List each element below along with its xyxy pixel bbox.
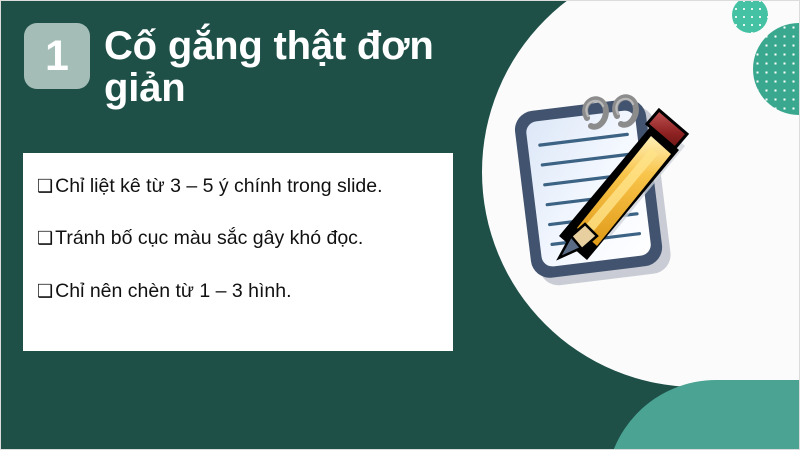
list-item-label: Chỉ nên chèn từ 1 – 3 hình.: [55, 280, 291, 302]
bullet-list-panel: ❑ Chỉ liệt kê từ 3 – 5 ý chính trong sli…: [23, 153, 453, 351]
square-bullet-icon: ❑: [37, 282, 53, 300]
teal-corner-shape: [606, 380, 800, 450]
square-bullet-icon: ❑: [37, 229, 53, 247]
page-title: Cố gắng thật đơn giản: [104, 25, 489, 110]
notepad-pencil-illustration: [501, 76, 731, 326]
list-item-label: Tránh bố cục màu sắc gây khó đọc.: [55, 227, 363, 249]
list-item-label: Chỉ liệt kê từ 3 – 5 ý chính trong slide…: [55, 175, 382, 197]
list-item: ❑ Chỉ liệt kê từ 3 – 5 ý chính trong sli…: [37, 175, 439, 197]
slide-header: 1 Cố gắng thật đơn giản: [24, 23, 489, 110]
step-number-label: 1: [45, 35, 69, 78]
list-item: ❑ Tránh bố cục màu sắc gây khó đọc.: [37, 227, 439, 249]
square-bullet-icon: ❑: [37, 177, 53, 195]
dotted-circle-small-icon: [732, 0, 768, 33]
slide-canvas: 1 Cố gắng thật đơn giản ❑ Chỉ liệt kê từ…: [0, 0, 800, 450]
step-number-badge: 1: [24, 23, 90, 89]
dotted-circle-large-icon: [753, 23, 800, 115]
list-item: ❑ Chỉ nên chèn từ 1 – 3 hình.: [37, 280, 439, 302]
